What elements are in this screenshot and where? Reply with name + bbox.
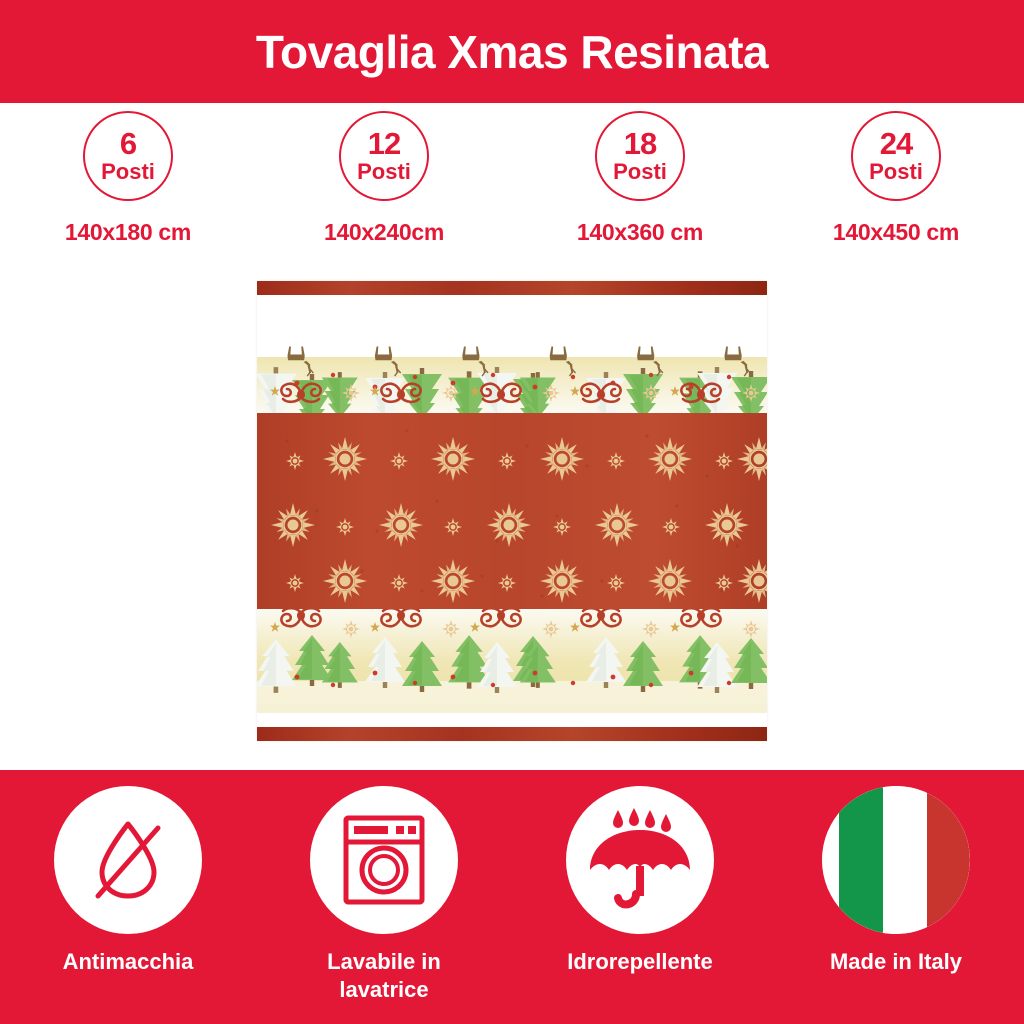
feature-icon-circle: [566, 786, 714, 934]
feature-label: Idrorepellente: [567, 948, 712, 976]
size-seat-count: 12: [368, 129, 400, 158]
feature-icon-circle: [310, 786, 458, 934]
size-dimensions: 140x450 cm: [833, 219, 959, 246]
size-seat-word: Posti: [869, 160, 923, 183]
tablecloth-illustration: [257, 281, 767, 741]
flag-stripe-red: [927, 786, 970, 934]
product-image-area: [0, 281, 1024, 770]
umbrella-rain-icon: [584, 808, 696, 912]
no-water-drop-icon: [80, 812, 176, 908]
feature-icon-circle: [54, 786, 202, 934]
size-option-6[interactable]: 6 Posti 140x180 cm: [0, 111, 256, 281]
features-banner: Antimacchia Lavabile in lavatrice: [0, 770, 1024, 1024]
size-seat-word: Posti: [101, 160, 155, 183]
size-seat-count: 18: [624, 129, 656, 158]
header-banner: Tovaglia Xmas Resinata: [0, 0, 1024, 103]
size-dimensions: 140x240cm: [324, 219, 444, 246]
size-badge-circle: 24 Posti: [851, 111, 941, 201]
size-option-12[interactable]: 12 Posti 140x240cm: [256, 111, 512, 281]
flag-stripe-green: [839, 786, 883, 934]
size-option-24[interactable]: 24 Posti 140x450 cm: [768, 111, 1024, 281]
feature-lavabile[interactable]: Lavabile in lavatrice: [256, 786, 512, 1024]
washing-machine-icon: [338, 812, 430, 908]
feature-made-in-italy[interactable]: Made in Italy: [768, 786, 1024, 1024]
size-badge-circle: 6 Posti: [83, 111, 173, 201]
feature-label: Made in Italy: [830, 948, 962, 976]
feature-label: Lavabile in lavatrice: [284, 948, 484, 1003]
feature-antimacchia[interactable]: Antimacchia: [0, 786, 256, 1024]
size-dimensions: 140x360 cm: [577, 219, 703, 246]
size-option-18[interactable]: 18 Posti 140x360 cm: [512, 111, 768, 281]
central-field: [257, 413, 767, 611]
italian-flag-icon: [822, 786, 970, 934]
size-options-row: 6 Posti 140x180 cm 12 Posti 140x240cm 18…: [0, 103, 1024, 281]
top-border-scene: [257, 295, 767, 425]
tablecloth-photo[interactable]: [257, 281, 767, 741]
page-title: Tovaglia Xmas Resinata: [256, 29, 768, 75]
size-seat-word: Posti: [357, 160, 411, 183]
size-seat-word: Posti: [613, 160, 667, 183]
size-seat-count: 6: [120, 129, 136, 158]
size-badge-circle: 18 Posti: [595, 111, 685, 201]
flag-stripe-white: [883, 786, 927, 934]
feature-label: Antimacchia: [63, 948, 194, 976]
size-badge-circle: 12 Posti: [339, 111, 429, 201]
feature-icon-circle: [822, 786, 970, 934]
size-seat-count: 24: [880, 129, 912, 158]
product-infographic: Tovaglia Xmas Resinata 6 Posti 140x180 c…: [0, 0, 1024, 1024]
feature-idrorepellente[interactable]: Idrorepellente: [512, 786, 768, 1024]
size-dimensions: 140x180 cm: [65, 219, 191, 246]
